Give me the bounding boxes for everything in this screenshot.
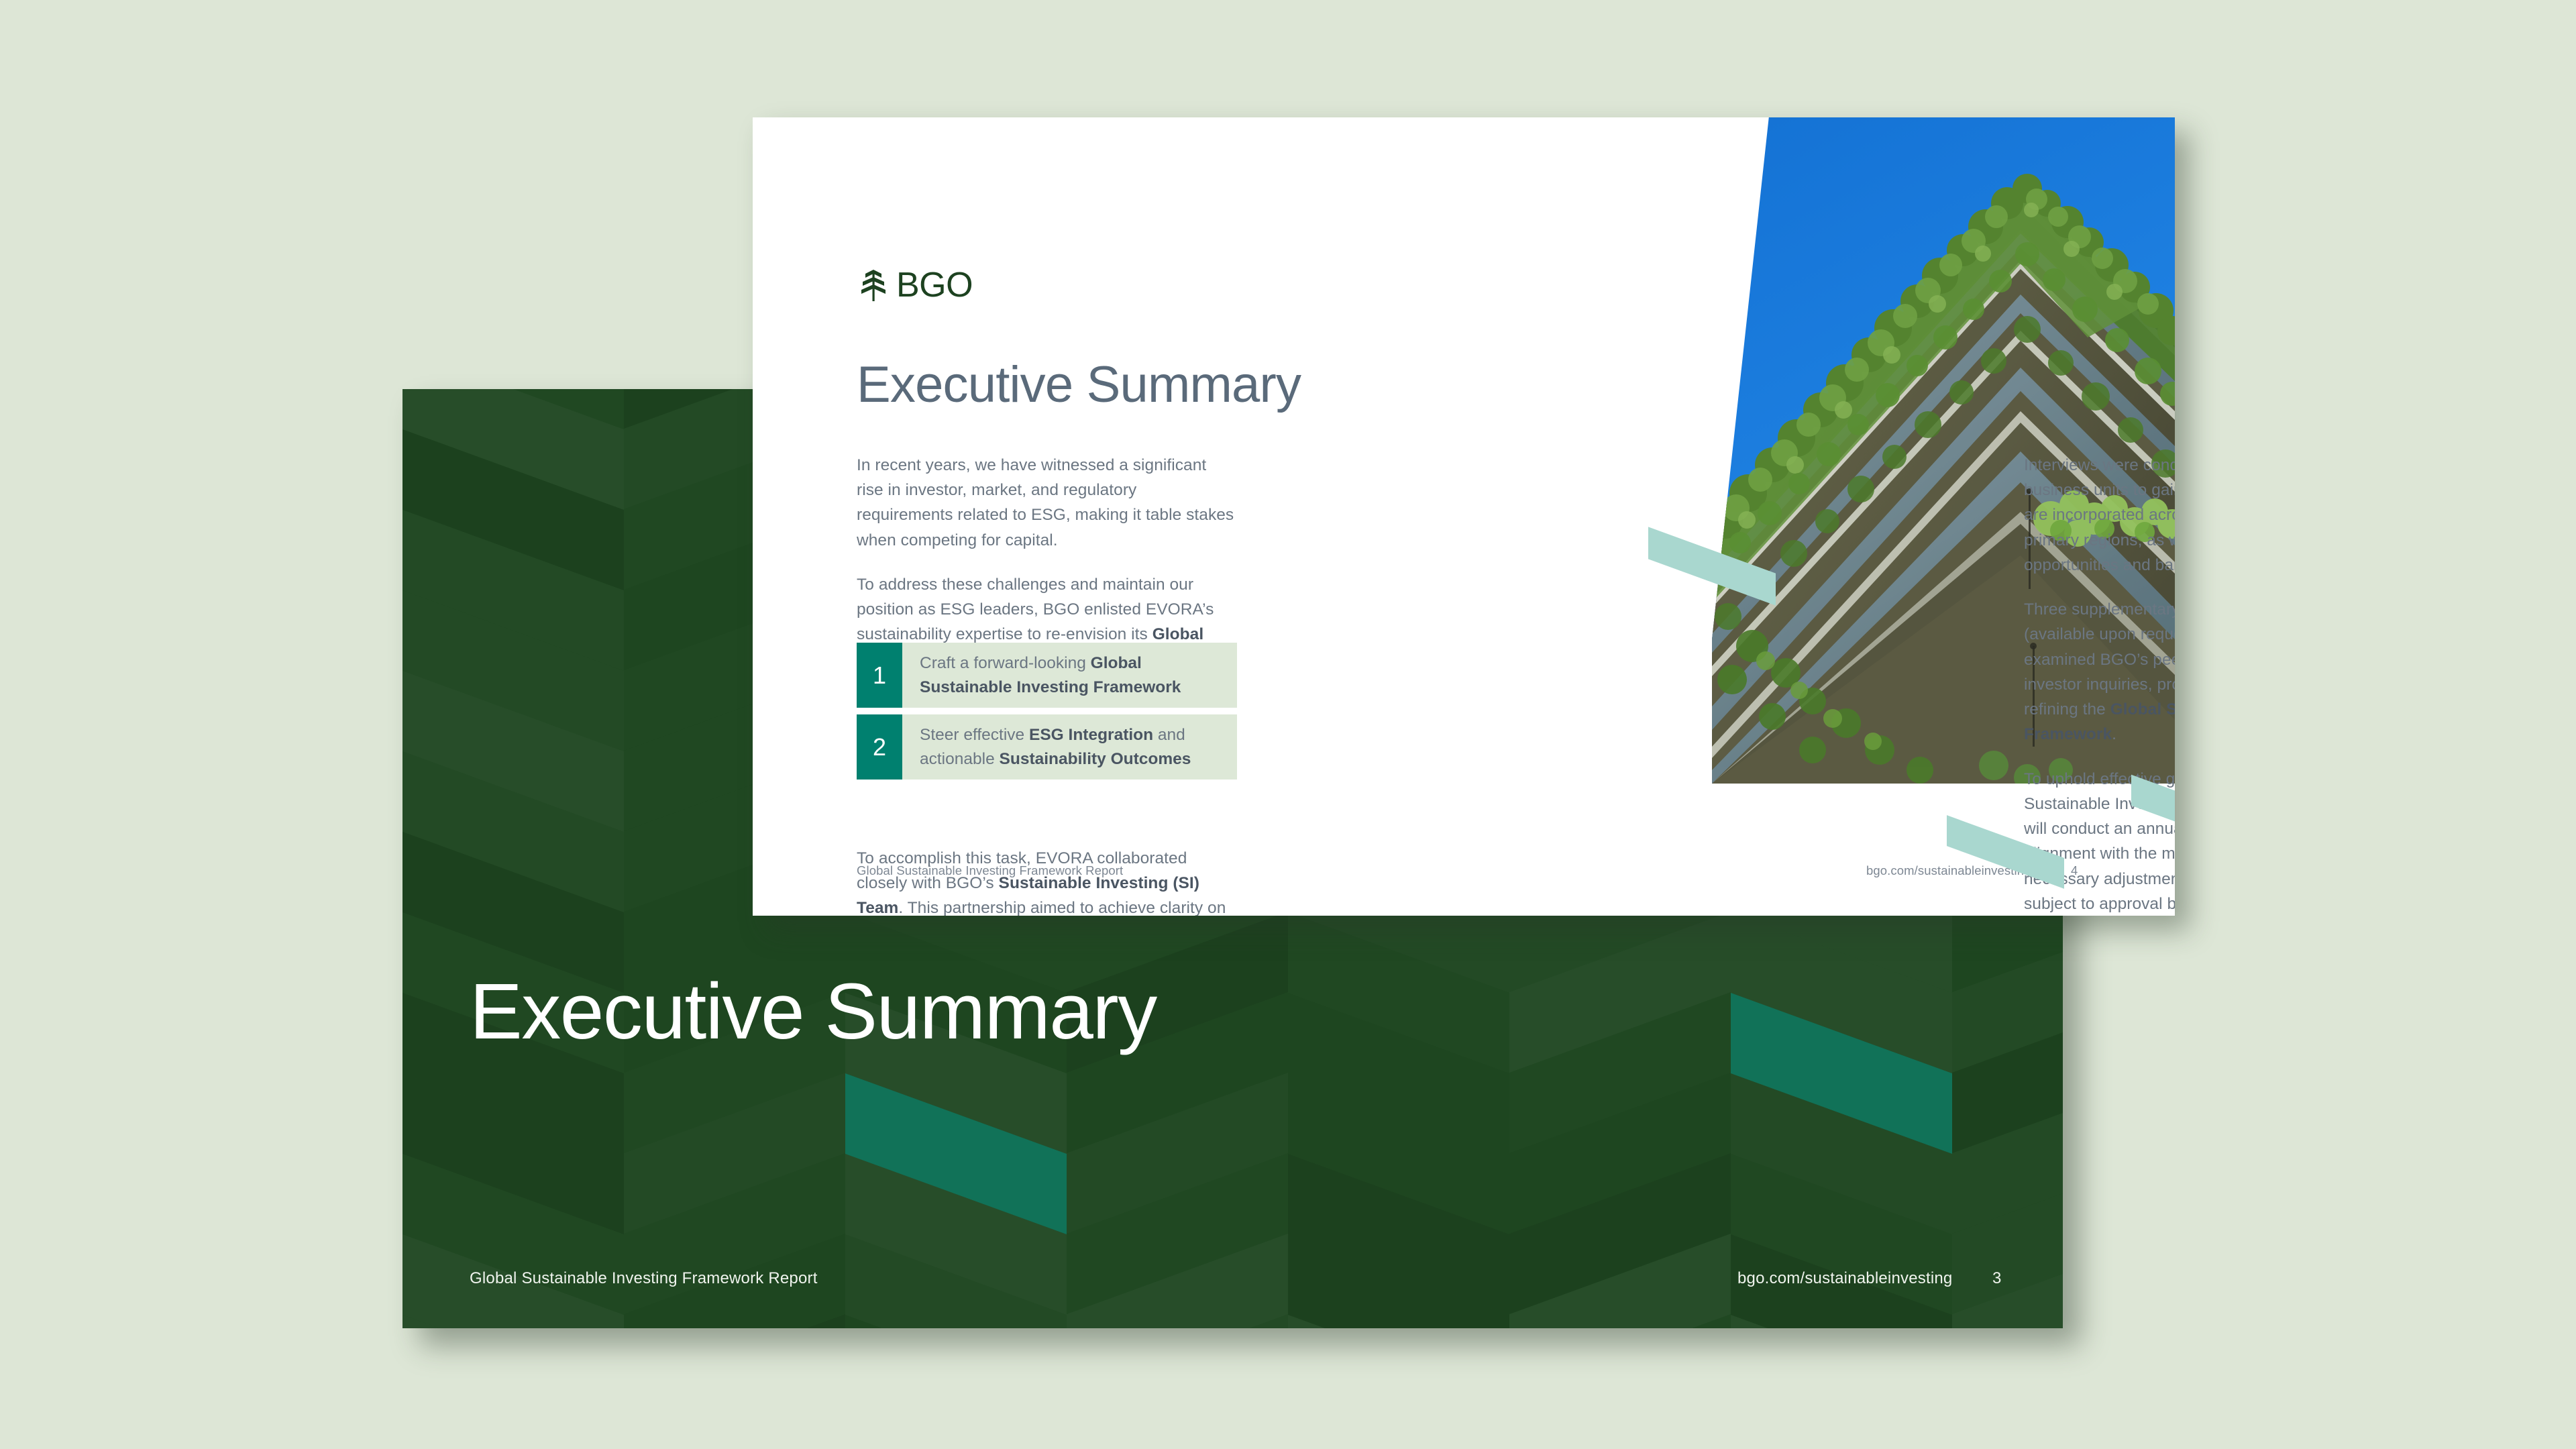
objective-number-1: 1 bbox=[857, 643, 902, 708]
objective-row-2: 2 Steer effective ESG Integration and ac… bbox=[857, 714, 1237, 780]
slide-footer-url: bgo.com/sustainableinvesting bbox=[1737, 1269, 1952, 1288]
bgo-logo: BGO bbox=[859, 268, 973, 303]
left-column-lower: To accomplish this task, EVORA collabora… bbox=[857, 846, 1237, 916]
paragraph-right-2: Three supplementary reviews were conduct… bbox=[2024, 597, 2175, 747]
paragraph-right-2-text-b: . bbox=[2112, 725, 2116, 743]
right-column: Interviews were conducted with BGO’s cou… bbox=[2024, 453, 2175, 916]
page-title: Executive Summary bbox=[857, 356, 1301, 414]
objective-text-2: Steer effective ESG Integration and acti… bbox=[902, 714, 1237, 780]
paragraph-left-1: In recent years, we have witnessed a sig… bbox=[857, 453, 1237, 553]
paragraph-right-1: Interviews were conducted with BGO’s cou… bbox=[2024, 453, 2175, 578]
page-footer-report-name: Global Sustainable Investing Framework R… bbox=[857, 863, 1123, 878]
key-objectives-list: 1 Craft a forward-looking Global Sustain… bbox=[857, 643, 1237, 786]
bgo-wordmark: BGO bbox=[896, 268, 973, 303]
objective-row-1: 1 Craft a forward-looking Global Sustain… bbox=[857, 643, 1237, 708]
slide-footer: Global Sustainable Investing Framework R… bbox=[402, 1269, 2063, 1296]
tree-leaf-icon bbox=[859, 268, 888, 303]
objective-1-text-a: Craft a forward-looking bbox=[920, 654, 1091, 672]
page-footer-page-number: 4 bbox=[2071, 863, 2078, 878]
slide-footer-report-name: Global Sustainable Investing Framework R… bbox=[470, 1269, 818, 1288]
content-page: BGO Executive Summary In recent years, w… bbox=[753, 117, 2175, 916]
paragraph-left-3-text-b: . This partnership aimed to achieve clar… bbox=[857, 899, 1226, 916]
objective-text-1: Craft a forward-looking Global Sustainab… bbox=[902, 643, 1237, 708]
objective-2-bold-a: ESG Integration bbox=[1029, 726, 1153, 744]
objective-number-2: 2 bbox=[857, 714, 902, 780]
paragraph-left-3: To accomplish this task, EVORA collabora… bbox=[857, 846, 1237, 916]
objective-2-text-a: Steer effective bbox=[920, 726, 1029, 744]
slide-title: Executive Summary bbox=[470, 966, 1157, 1057]
objective-2-bold-b: Sustainability Outcomes bbox=[1000, 750, 1191, 768]
slide-footer-page-number: 3 bbox=[1992, 1269, 2001, 1288]
